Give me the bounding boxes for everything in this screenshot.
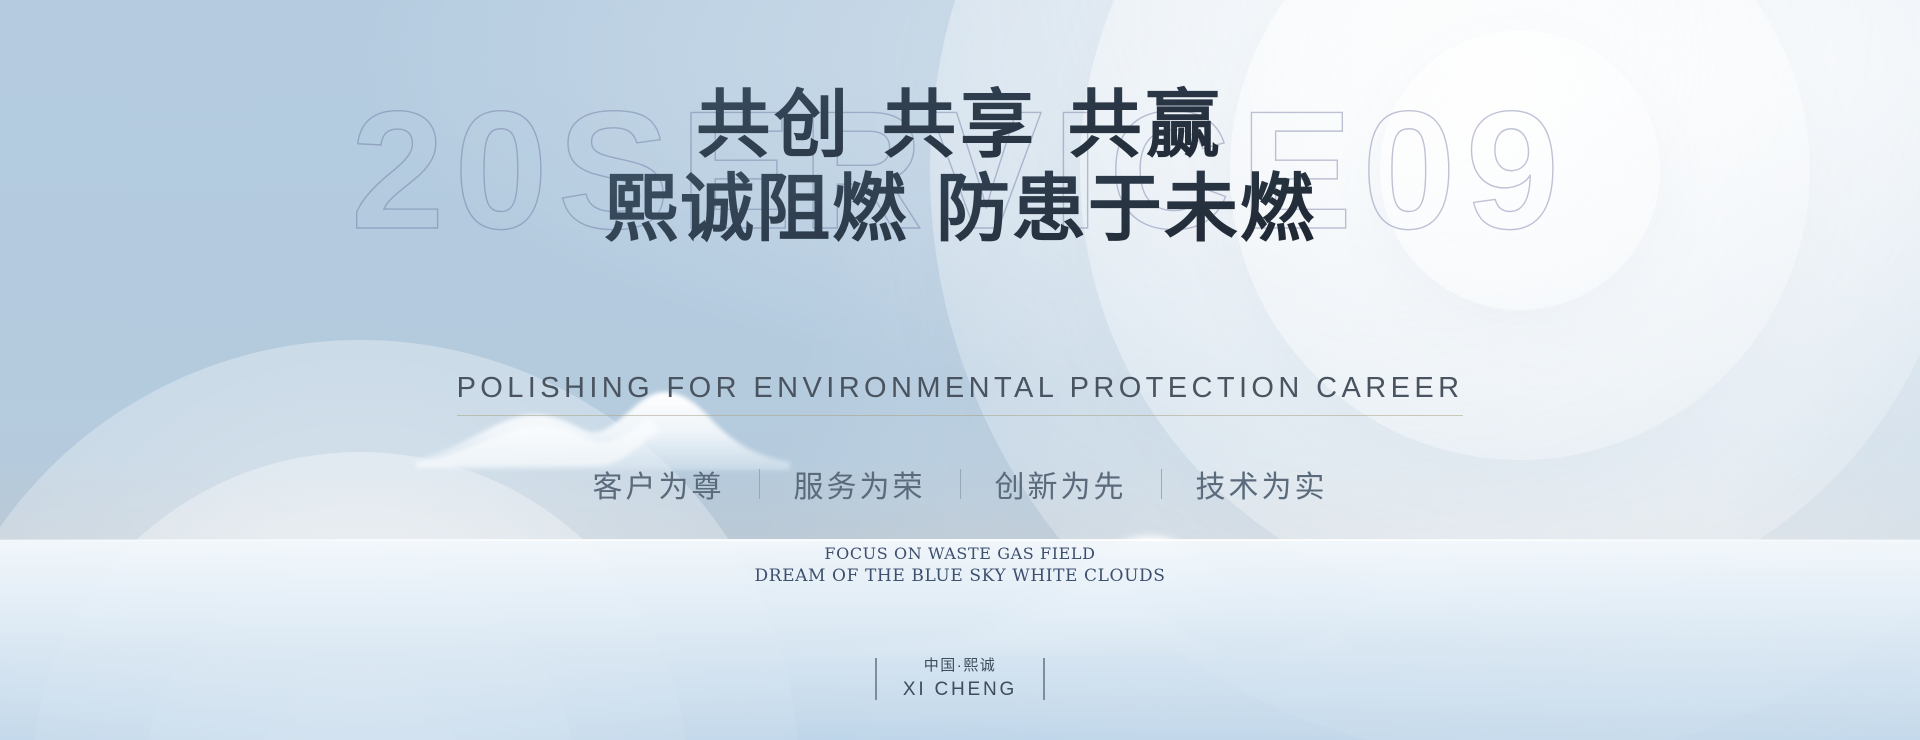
horizon-line: [0, 539, 1920, 541]
value-separator-3: [1161, 469, 1162, 499]
value-item-2: 服务为荣: [760, 462, 960, 506]
subtitle-block: FOCUS ON WASTE GAS FIELD DREAM OF THE BL…: [0, 543, 1920, 589]
value-item-3: 创新为先: [961, 462, 1161, 506]
promo-banner: 20SERVICE09: [0, 0, 1920, 740]
value-separator-2: [960, 469, 961, 499]
tagline-text: POLISHING FOR ENVIRONMENTAL PROTECTION C…: [457, 372, 1464, 416]
footer-logo-block: 中国·熙诚 XI CHENG: [0, 656, 1920, 702]
headline-line-1: 共创 共享 共赢: [0, 84, 1920, 168]
logo-text: 中国·熙诚 XI CHENG: [903, 656, 1017, 702]
headline-line-2: 熙诚阻燃 防患于未燃: [0, 168, 1920, 252]
values-row: 客户为尊 服务为荣 创新为先 技术为实: [0, 462, 1920, 506]
logo-text-cn: 中国·熙诚: [903, 656, 1017, 676]
ring-third: [144, 564, 576, 740]
logo-divider-left: [875, 658, 877, 700]
subtitle-line-2: DREAM OF THE BLUE SKY WHITE CLOUDS: [0, 565, 1920, 588]
logo-divider-right: [1043, 658, 1045, 700]
logo-text-en: XI CHENG: [903, 677, 1017, 702]
value-separator-1: [759, 469, 760, 499]
headline-block: 共创 共享 共赢 熙诚阻燃 防患于未燃: [0, 84, 1920, 251]
value-item-4: 技术为实: [1162, 462, 1362, 506]
tagline-wrapper: POLISHING FOR ENVIRONMENTAL PROTECTION C…: [0, 372, 1920, 416]
value-item-1: 客户为尊: [559, 462, 759, 506]
subtitle-line-1: FOCUS ON WASTE GAS FIELD: [0, 543, 1920, 565]
